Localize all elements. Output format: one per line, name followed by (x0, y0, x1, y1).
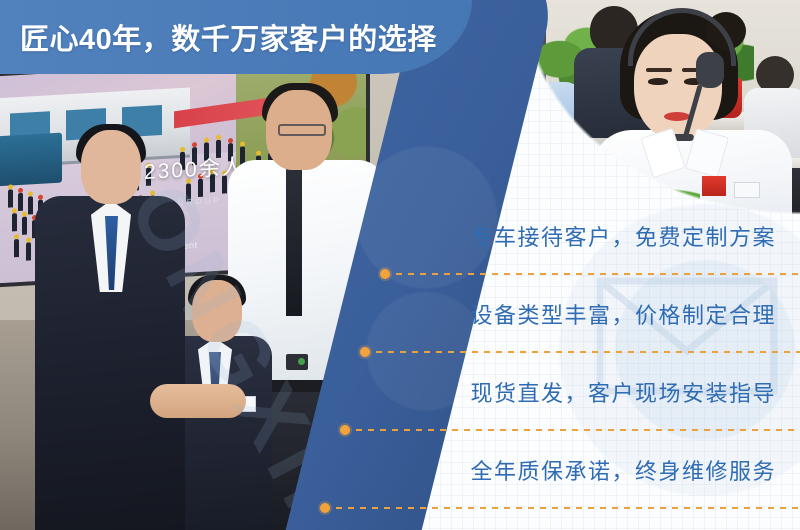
feature-label: 全年质保承诺，终身维修服务 (470, 454, 776, 486)
feature-label: 专车接待客户，免费定制方案 (470, 220, 776, 252)
feature-label: 设备类型丰富，价格制定合理 (470, 298, 776, 330)
feature-label: 现货直发，客户现场安装指导 (470, 376, 776, 408)
feature-item-3: 现货直发，客户现场安装指导 (340, 370, 800, 448)
feature-dot (380, 269, 390, 279)
promo-banner: 2300余人 HONGXIN GROUP online employment (0, 0, 800, 530)
company-logo-badge (702, 176, 726, 196)
feature-dot (320, 503, 330, 513)
feature-dot (340, 425, 350, 435)
feature-list: 专车接待客户，免费定制方案 设备类型丰富，价格制定合理 现货直发，客户现场安装指… (340, 214, 800, 530)
feature-divider (384, 273, 800, 275)
header-bar: 匠心40年，数千万家客户的选择 (0, 0, 472, 74)
handshake (150, 384, 246, 418)
feature-divider (364, 351, 800, 353)
feature-divider (344, 429, 800, 431)
name-tag (734, 182, 760, 198)
person-executive-left (35, 130, 185, 530)
page-title: 匠心40年，数千万家客户的选择 (20, 16, 437, 58)
fingerprint-reader (286, 354, 308, 370)
feature-item-2: 设备类型丰富，价格制定合理 (340, 292, 800, 370)
feature-item-4: 全年质保承诺，终身维修服务 (340, 448, 800, 526)
feature-item-1: 专车接待客户，免费定制方案 (340, 214, 800, 292)
feature-divider (324, 507, 800, 509)
feature-dot (360, 347, 370, 357)
